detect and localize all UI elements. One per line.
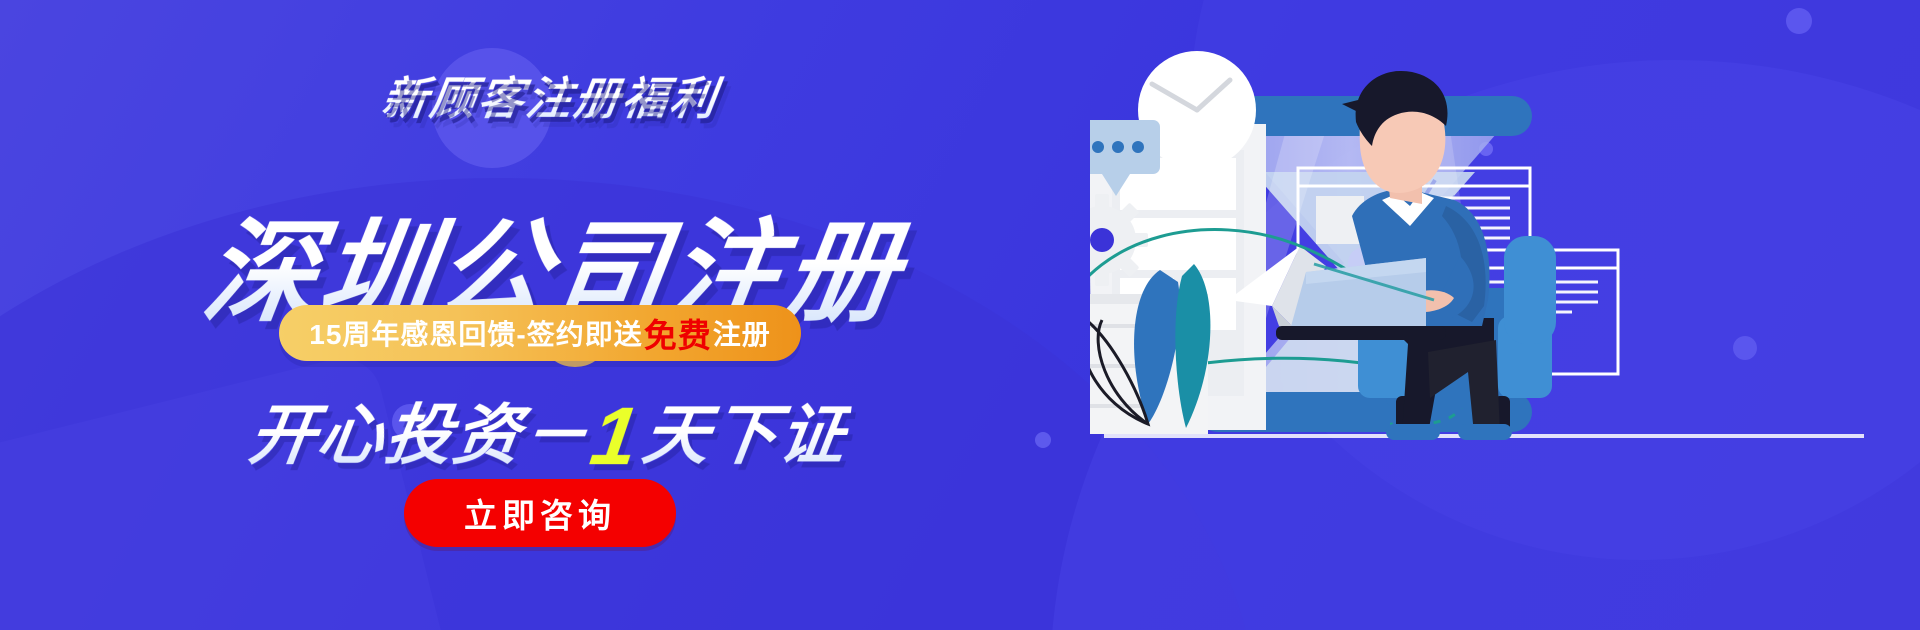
consult-now-button[interactable]: 立即咨询 — [404, 479, 676, 547]
promo-lead-text: 15周年感恩回馈-签约即送 — [309, 313, 642, 353]
office-illustration — [1090, 0, 1920, 630]
kicker-text: 新顾客注册福利 — [0, 62, 1085, 127]
tagline: 开心投资－1天下证 — [0, 382, 1087, 484]
cta-wrapper: 立即咨询 — [0, 479, 1080, 547]
copy-block: 新顾客注册福利 深圳公司注册 15周年感恩回馈-签约即送免费注册 开心投资－1天… — [0, 0, 1080, 630]
promo-badge: 15周年感恩回馈-签约即送免费注册 — [279, 305, 801, 361]
tagline-number: 1 — [585, 390, 646, 484]
tagline-trail-text: 天下证 — [638, 398, 852, 472]
promo-highlight-text: 免费 — [644, 309, 712, 357]
promo-banner: 新顾客注册福利 深圳公司注册 15周年感恩回馈-签约即送免费注册 开心投资－1天… — [0, 0, 1920, 630]
promo-pill-wrapper: 15周年感恩回馈-签约即送免费注册 — [0, 305, 1080, 361]
promo-trail-text: 注册 — [713, 313, 771, 353]
tagline-lead-text: 开心投资－ — [245, 398, 595, 472]
